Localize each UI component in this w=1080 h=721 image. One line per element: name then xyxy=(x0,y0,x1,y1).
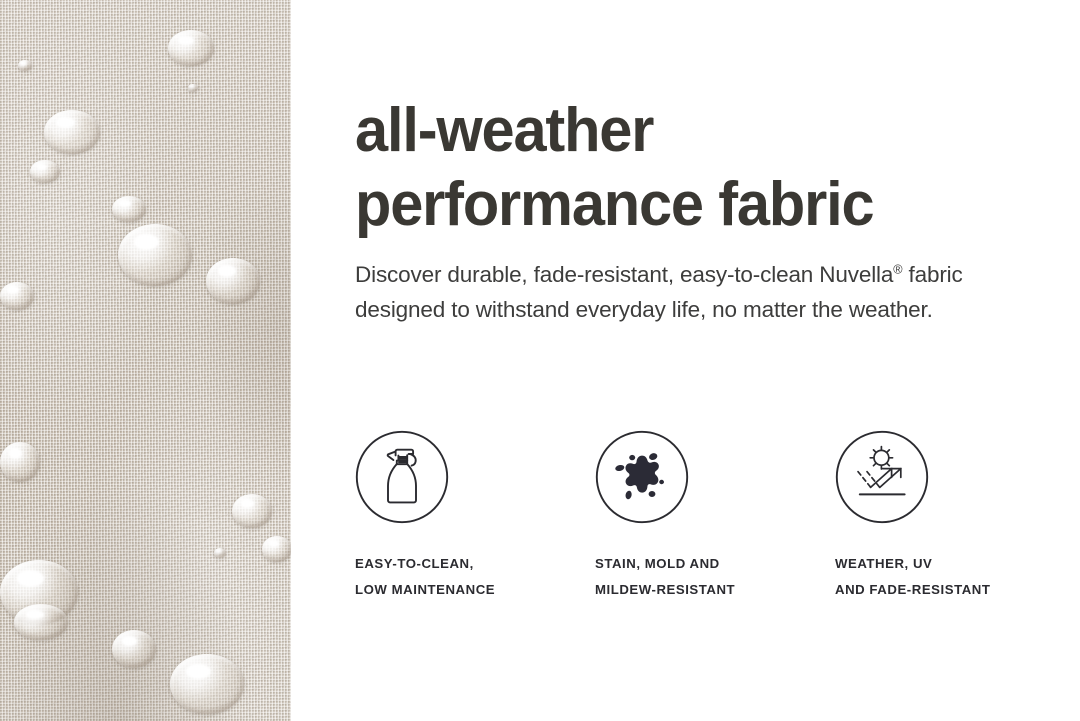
water-droplet xyxy=(214,548,226,558)
water-droplet xyxy=(118,224,192,286)
fabric-photo-panel xyxy=(0,0,291,721)
feature-caption: EASY-TO-CLEAN, LOW MAINTENANCE xyxy=(355,551,595,602)
water-droplet xyxy=(44,110,100,154)
spray-bottle-icon xyxy=(355,430,449,524)
water-droplet xyxy=(262,536,291,562)
stain-splat-icon xyxy=(595,430,689,524)
water-droplet xyxy=(206,258,260,304)
water-droplet xyxy=(18,60,32,71)
content-panel: all-weather performance fabric Discover … xyxy=(291,0,1080,721)
feature-item-stain-resistant: STAIN, MOLD AND MILDEW-RESISTANT xyxy=(595,430,835,602)
page-title: all-weather performance fabric xyxy=(355,94,1027,242)
water-droplet xyxy=(112,196,146,222)
water-droplet xyxy=(30,160,60,183)
feature-list: EASY-TO-CLEAN, LOW MAINTENANCE xyxy=(355,430,1071,602)
feature-item-easy-to-clean: EASY-TO-CLEAN, LOW MAINTENANCE xyxy=(355,430,595,602)
water-droplet xyxy=(0,282,34,310)
water-droplet xyxy=(170,654,244,714)
water-droplet xyxy=(232,494,272,528)
water-droplet xyxy=(112,630,156,668)
subcopy-text-before-mark: Discover durable, fade-resistant, easy-t… xyxy=(355,262,893,287)
sun-uv-deflection-icon xyxy=(835,430,929,524)
feature-caption: STAIN, MOLD AND MILDEW-RESISTANT xyxy=(595,551,835,602)
feature-item-weather-uv-fade-resistant: WEATHER, UV AND FADE-RESISTANT xyxy=(835,430,1075,602)
subcopy-paragraph: Discover durable, fade-resistant, easy-t… xyxy=(355,258,1015,327)
water-droplet xyxy=(14,604,68,640)
water-droplet xyxy=(188,84,198,92)
water-droplet xyxy=(168,30,214,66)
all-weather-fabric-banner: all-weather performance fabric Discover … xyxy=(0,0,1080,721)
water-droplet xyxy=(0,442,40,482)
feature-caption: WEATHER, UV AND FADE-RESISTANT xyxy=(835,551,1075,602)
